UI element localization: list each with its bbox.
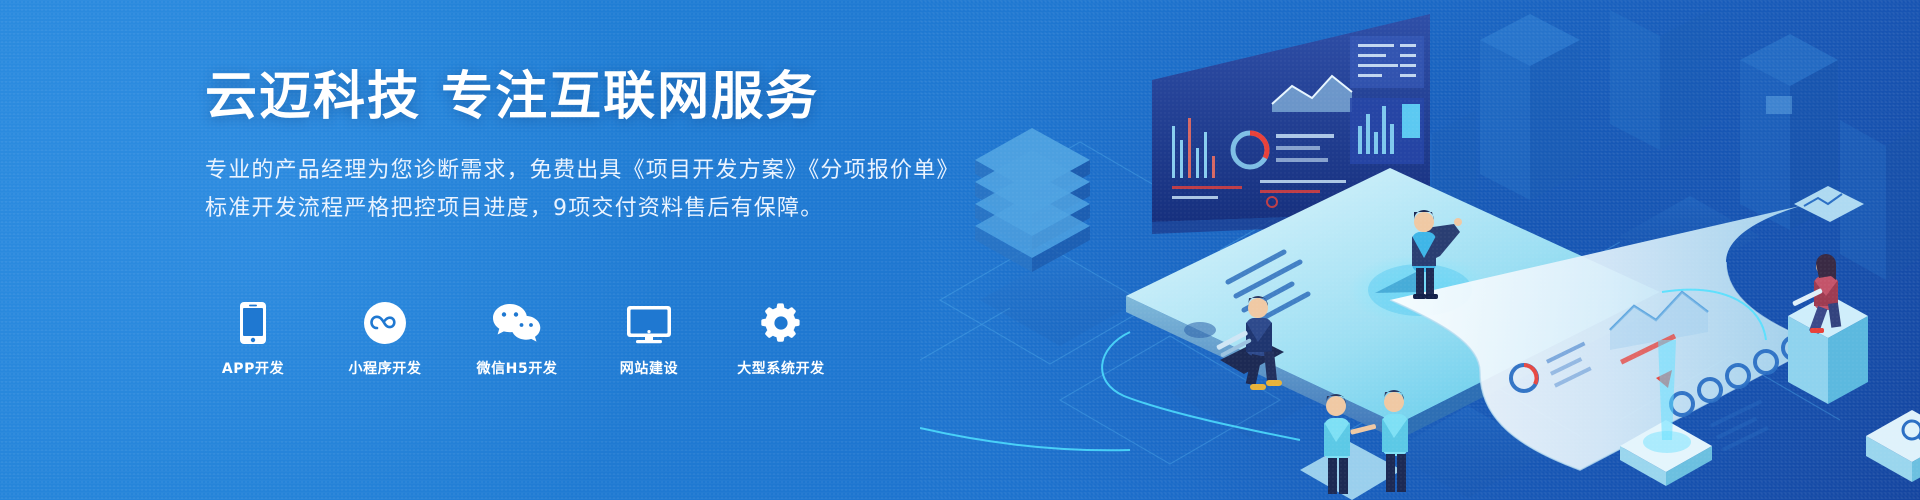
hero-copy: 云迈科技 专注互联网服务 专业的产品经理为您诊断需求，免费出具《项目开发方案》《… <box>205 68 1085 228</box>
connector-wires <box>920 290 1766 451</box>
service-item-app[interactable]: APP开发 <box>205 300 301 378</box>
pair-of-figures <box>1300 390 1408 500</box>
city-skyline-blocks <box>1390 10 1920 280</box>
service-label: 小程序开发 <box>349 358 422 378</box>
miniprogram-icon <box>364 300 406 344</box>
woman-on-pedestal <box>1788 186 1920 482</box>
service-item-miniprogram[interactable]: 小程序开发 <box>337 300 433 378</box>
grid-plates <box>980 196 1760 498</box>
wechat-icon <box>492 300 542 344</box>
sitting-figure-laptop <box>1216 296 1284 390</box>
service-label: 微信H5开发 <box>476 358 557 378</box>
beam-pod <box>1620 340 1712 486</box>
phone-icon <box>240 300 266 344</box>
page-title: 云迈科技 专注互联网服务 <box>205 68 1085 126</box>
service-list: APP开发 小程序开发 微信 <box>205 300 829 378</box>
tablet-platform <box>1126 168 1660 440</box>
service-label: 网站建设 <box>620 358 678 378</box>
gear-icon <box>760 300 802 344</box>
service-label: 大型系统开发 <box>737 358 825 378</box>
service-item-website[interactable]: 网站建设 <box>601 300 697 378</box>
subtitle-line-1: 专业的产品经理为您诊断需求，免费出具《项目开发方案》《分项报价单》 <box>205 158 960 183</box>
monitor-icon <box>627 300 671 344</box>
hero-banner: 云迈科技 专注互联网服务 专业的产品经理为您诊断需求，免费出具《项目开发方案》《… <box>0 0 1920 500</box>
subtitle-line-2: 标准开发流程严格把控项目进度，9项交付资料售后有保障。 <box>205 190 1085 228</box>
standing-figure <box>1412 210 1462 299</box>
service-label: APP开发 <box>222 358 284 378</box>
data-sheet-ribbon <box>1390 206 1820 470</box>
service-item-wechat-h5[interactable]: 微信H5开发 <box>469 300 565 378</box>
hero-subtitle: 专业的产品经理为您诊断需求，免费出具《项目开发方案》《分项报价单》 标准开发流程… <box>205 152 1085 228</box>
dashboard-screen <box>1152 14 1430 234</box>
service-item-system[interactable]: 大型系统开发 <box>733 300 829 378</box>
